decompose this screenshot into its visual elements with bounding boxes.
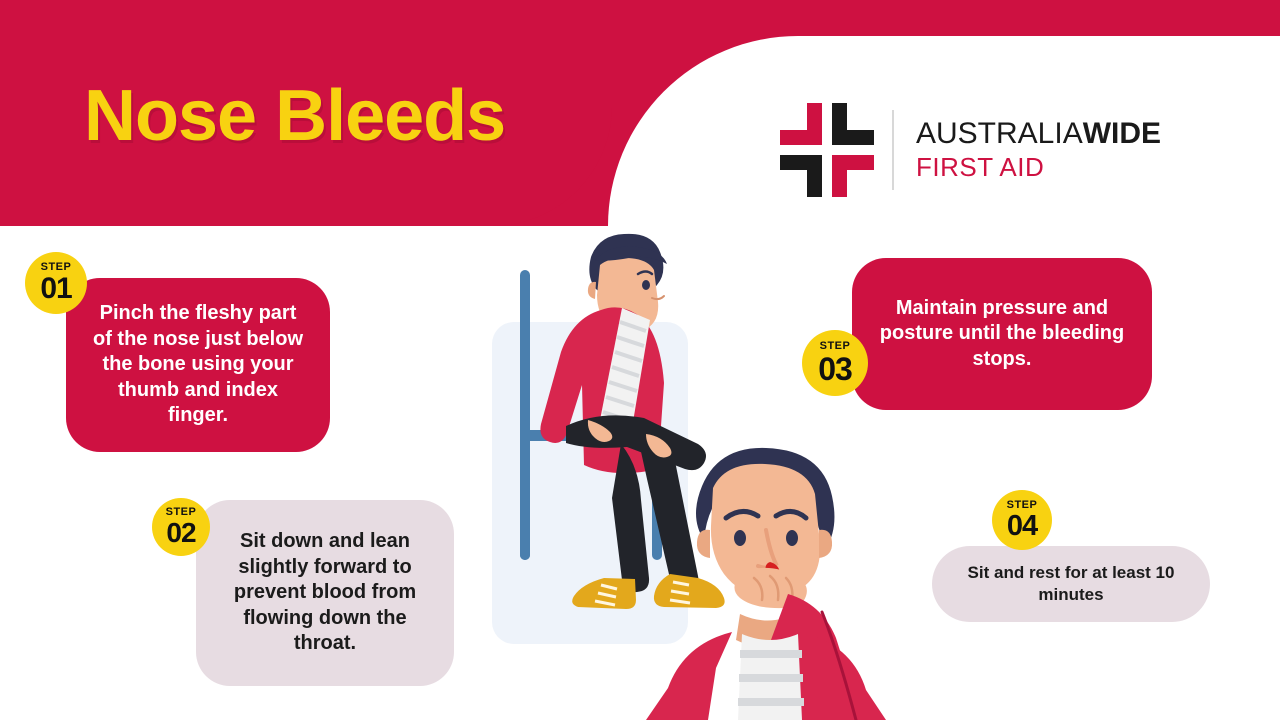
logo-line-1: AUSTRALIAWIDE [916, 117, 1161, 152]
step-1-badge-number: 01 [40, 274, 71, 304]
step-4-text-box: Sit and rest for at least 10 minutes [932, 546, 1210, 622]
step-1-badge: STEP 01 [25, 252, 87, 314]
logo-quadrant-bottom-right [832, 155, 874, 197]
step-3-badge: STEP 03 [802, 330, 868, 396]
step-3-badge-number: 03 [818, 353, 852, 385]
step-4-badge: STEP 04 [992, 490, 1052, 550]
cross-logo-icon [780, 103, 874, 197]
step-3-text-box: Maintain pressure and posture until the … [852, 258, 1152, 410]
logo-quadrant-top-left [780, 103, 822, 145]
logo-line-2: FIRST AID [916, 152, 1161, 183]
person-sitting-leaning-forward [520, 234, 725, 609]
step-2-text-box: Sit down and lean slightly forward to pr… [196, 500, 454, 686]
infographic-canvas: Nose Bleeds AUSTRALIAWIDE FIRST AID [0, 0, 1280, 720]
seated-legs [566, 415, 706, 593]
step-1-text-box: Pinch the fleshy part of the nose just b… [66, 278, 330, 452]
logo-word-australia: AUSTRALIA [916, 117, 1083, 150]
brand-logo: AUSTRALIAWIDE FIRST AID [780, 98, 1220, 202]
logo-wordmark: AUSTRALIAWIDE FIRST AID [916, 117, 1161, 183]
step-2-badge: STEP 02 [152, 498, 210, 556]
page-title: Nose Bleeds [84, 80, 505, 152]
step-4-badge-label: STEP [1007, 500, 1038, 511]
logo-word-wide: WIDE [1083, 117, 1161, 150]
step-4-badge-number: 04 [1007, 512, 1037, 541]
logo-quadrant-top-right [832, 103, 874, 145]
logo-quadrant-bottom-left [780, 155, 822, 197]
step-2-badge-number: 02 [166, 519, 195, 547]
logo-divider [892, 110, 894, 190]
